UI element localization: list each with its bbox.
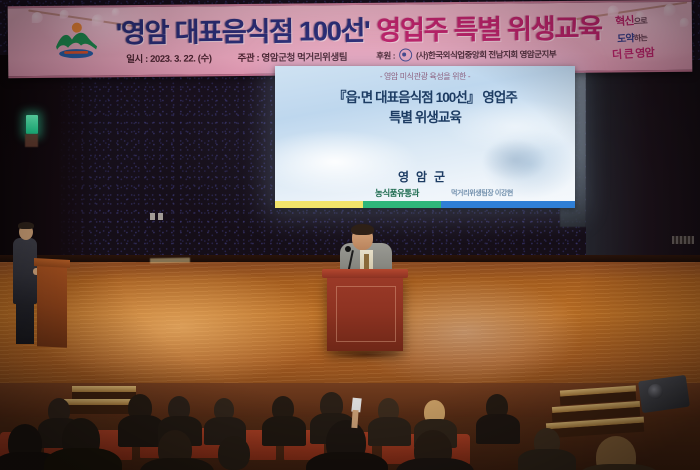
center-podium	[327, 276, 403, 351]
presenting-speaker-hair	[351, 224, 374, 235]
ribbon-segment-green	[363, 201, 441, 208]
banner-sponsor-label: 후원 :	[376, 49, 395, 61]
microphone-head-icon	[345, 246, 351, 252]
slide-title: 『읍·면 대표음식점 100선』 영업주 특별 위생교육	[275, 88, 575, 127]
podium-front-panel	[336, 286, 396, 342]
wall-vent-icon	[672, 236, 694, 244]
slide-title-line-2: 특별 위생교육	[275, 108, 575, 128]
county-slogan: 혁신으로 도약하는 더 큰 영암	[582, 5, 681, 67]
audience-head	[218, 436, 250, 470]
slide-color-ribbon	[275, 201, 575, 208]
slide-title-line-1: 『읍·면 대표음식점 100선』 영업주	[275, 88, 575, 108]
banner-sponsor-group: 후원 : (사)한국외식업중앙회 전남지회 영암군지부	[376, 47, 556, 62]
audience-shoulders	[44, 448, 122, 470]
slide-presenter: 먹거리위생팀장 이강현	[451, 188, 513, 198]
association-logo-icon	[399, 48, 412, 61]
slogan-line-3: 더 큰 영암	[612, 43, 655, 62]
exit-sign-mount	[25, 134, 38, 147]
banner-title-part2: 영업주 특별 위생교육	[376, 6, 602, 47]
yeongam-county-emblem-icon	[52, 20, 100, 62]
raised-arm	[351, 410, 358, 428]
standing-attendant-hair	[18, 222, 34, 229]
ribbon-segment-blue	[441, 201, 575, 208]
banner-title: '영암 대표음식점 100선' 영업주 특별 위생교육	[116, 5, 586, 52]
cherry-blossom-icon	[32, 12, 43, 23]
cherry-blossom-icon	[680, 18, 689, 27]
floor-marker	[150, 258, 190, 264]
slogan-line-2: 도약하는	[617, 28, 648, 45]
standing-attendant-legs	[16, 300, 34, 344]
banner-host: 주관 : 영암군청 먹거리위생팀	[238, 49, 348, 64]
wall-fixture-icon	[150, 213, 155, 220]
banner-sponsor-org: (사)한국외식업중앙회 전남지회 영암군지부	[416, 48, 556, 61]
left-podium	[37, 264, 67, 348]
slide-department: 농식품유통과	[375, 187, 419, 199]
wall-fixture-icon	[158, 213, 163, 220]
audience-shoulders	[396, 458, 474, 470]
audience-shoulders	[518, 449, 576, 470]
audience-shoulders	[368, 417, 411, 446]
ribbon-segment-yellow	[275, 201, 363, 208]
slogan-keyword-2: 도약	[617, 33, 634, 45]
projection-screen: - 영암 미식관광 육성을 위한 - 『읍·면 대표음식점 100선』 영업주 …	[275, 66, 575, 208]
audience-shoulders	[262, 416, 306, 446]
cherry-blossom-icon	[60, 10, 69, 19]
auditorium-photo: '영암 대표음식점 100선' 영업주 특별 위생교육 일시 : 2023. 3…	[0, 0, 700, 470]
exit-sign-icon	[26, 115, 38, 134]
slogan-suffix-1: 으로	[634, 16, 648, 26]
slide-organization: 영암군	[275, 168, 575, 185]
audience-shoulders	[140, 458, 214, 470]
banner-title-part1: '영암 대표음식점 100선'	[116, 8, 370, 49]
pa-speaker-cabinet	[638, 375, 690, 413]
audience-shoulders	[306, 452, 388, 470]
audience-shoulders	[476, 414, 520, 444]
slogan-line-1: 혁신으로	[615, 11, 648, 29]
banner-date: 일시 : 2023. 3. 22. (수)	[126, 50, 212, 65]
slide-pretitle: - 영암 미식관광 육성을 위한 -	[275, 71, 575, 82]
pa-speaker-cone-icon	[648, 384, 663, 399]
slogan-suffix-2: 하는	[634, 33, 648, 43]
slogan-keyword-1: 혁신	[615, 15, 634, 28]
